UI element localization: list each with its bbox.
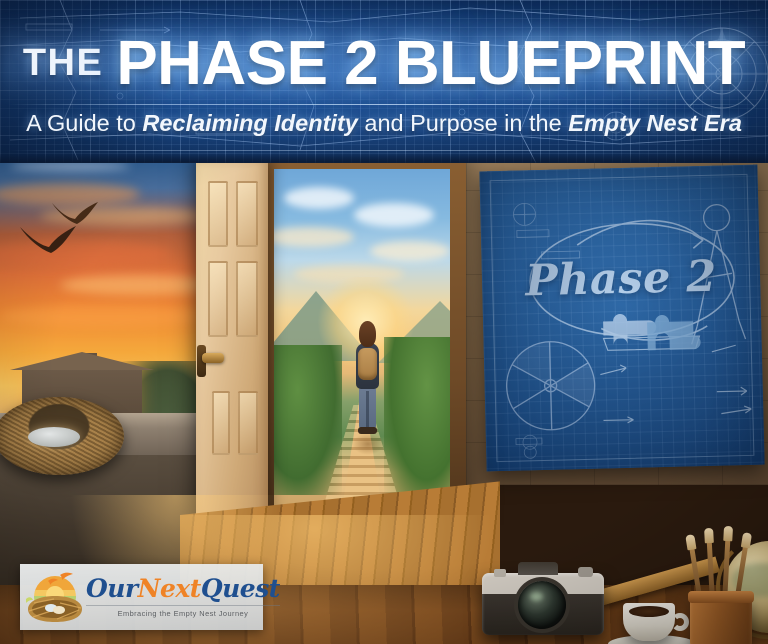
logo-word-our: Our (86, 574, 138, 603)
figure-legs (359, 387, 376, 429)
figure-shoes (358, 427, 377, 434)
cloud (354, 203, 434, 227)
cloud (284, 187, 354, 209)
woman-with-backpack (352, 321, 382, 439)
door-frame (196, 155, 466, 525)
door-panel-inset (238, 391, 258, 455)
divider-line-bottom (8, 150, 760, 151)
logo-word-quest: Quest (201, 574, 280, 603)
camera-dial (578, 567, 593, 577)
subtitle-part-4: Empty Nest Era (568, 110, 742, 136)
brand-logo[interactable]: OurNextQuest Embracing the Empty Nest Jo… (20, 564, 263, 630)
subtitle-part-2: Reclaiming Identity (142, 110, 357, 136)
divider-line-top (8, 104, 760, 105)
coffee-cup-icon (623, 603, 675, 641)
door-panel-inset (236, 181, 258, 247)
doorway-opening (274, 169, 450, 521)
logo-tagline: Embracing the Empty Nest Journey (86, 605, 280, 618)
empty-nest-icon (0, 397, 124, 475)
paintbrush-pot-icon (690, 595, 752, 644)
foliage (274, 345, 342, 495)
foliage (384, 337, 450, 497)
cup-handle (671, 613, 689, 631)
logo-word-next: Next (138, 574, 201, 603)
title-lead: THE (23, 42, 104, 85)
nest-with-sunrise-and-birds-icon (24, 569, 86, 625)
backpack-icon (358, 348, 377, 380)
cloud (274, 227, 354, 247)
cloud (0, 305, 210, 327)
cloud (370, 241, 450, 261)
logo-wordmark: OurNextQuest Embracing the Empty Nest Jo… (86, 576, 286, 618)
camera-shutter-button (494, 569, 506, 577)
door-panel-inset (208, 261, 228, 337)
door-panel-inset (212, 391, 230, 455)
board-vignette (479, 165, 764, 472)
page-title: THE PHASE 2 BLUEPRINT (0, 24, 768, 102)
phase-2-blueprint-poster: THE PHASE 2 BLUEPRINT A Guide to Reclaim… (0, 0, 768, 644)
subtitle-part-3: and Purpose in the (358, 110, 568, 136)
header-banner: THE PHASE 2 BLUEPRINT A Guide to Reclaim… (0, 0, 768, 163)
wooden-door[interactable] (196, 159, 268, 521)
camera-lens (518, 581, 566, 629)
title-main: PHASE 2 BLUEPRINT (116, 28, 745, 99)
vintage-camera-icon (482, 573, 604, 635)
figure-head (359, 321, 376, 347)
logo-name: OurNextQuest (86, 576, 280, 601)
subtitle-part-1: A Guide to (26, 110, 142, 136)
door-panel-inset (236, 261, 258, 337)
camera-viewfinder (518, 562, 558, 575)
door-handle-icon[interactable] (202, 353, 224, 363)
figure-shadow (352, 433, 384, 455)
blueprint-board: Phase 2 (479, 165, 764, 472)
landscape-view (274, 169, 450, 521)
door-panel-inset (208, 181, 228, 247)
page-subtitle: A Guide to Reclaiming Identity and Purpo… (0, 110, 768, 137)
